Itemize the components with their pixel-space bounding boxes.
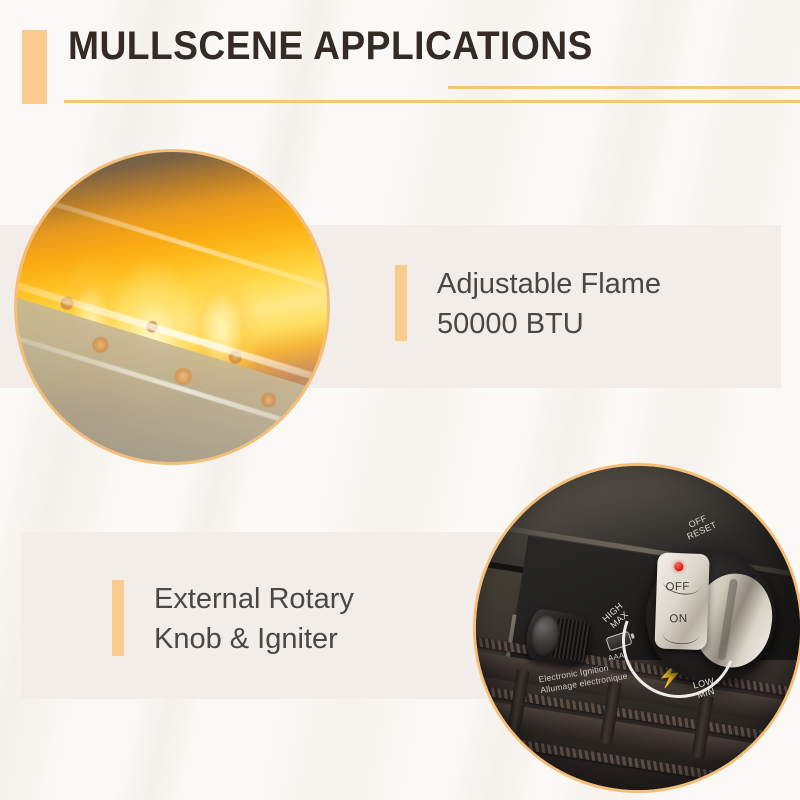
flame-burner-photo — [17, 152, 327, 462]
feature-caption-line1: Adjustable Flame — [437, 264, 661, 304]
ignition-led-indicator — [674, 562, 683, 571]
feature-accent-bar — [395, 265, 407, 341]
feature-caption-adjustable-flame: Adjustable Flame 50000 BTU — [437, 264, 661, 344]
header-divider-main — [64, 100, 800, 103]
feature-caption-line2: Knob & Igniter — [154, 619, 354, 659]
page-title: MULLSCENE APPLICATIONS — [68, 24, 593, 69]
feature-caption-external-rotary-knob: External Rotary Knob & Igniter — [154, 579, 354, 659]
control-panel-image-body: AAA ⚡ Electronic Ignition Allumage elect… — [476, 466, 800, 790]
header-divider-upper — [448, 86, 800, 89]
feature-caption-line1: External Rotary — [154, 579, 354, 619]
header-accent-bar — [22, 30, 47, 104]
feature-caption-line2: 50000 BTU — [437, 304, 661, 344]
poster-canvas: MULLSCENE APPLICATIONS Adjustable Flame … — [0, 0, 800, 800]
feature-accent-bar — [112, 580, 124, 656]
control-panel-photo: AAA ⚡ Electronic Ignition Allumage elect… — [476, 466, 800, 790]
